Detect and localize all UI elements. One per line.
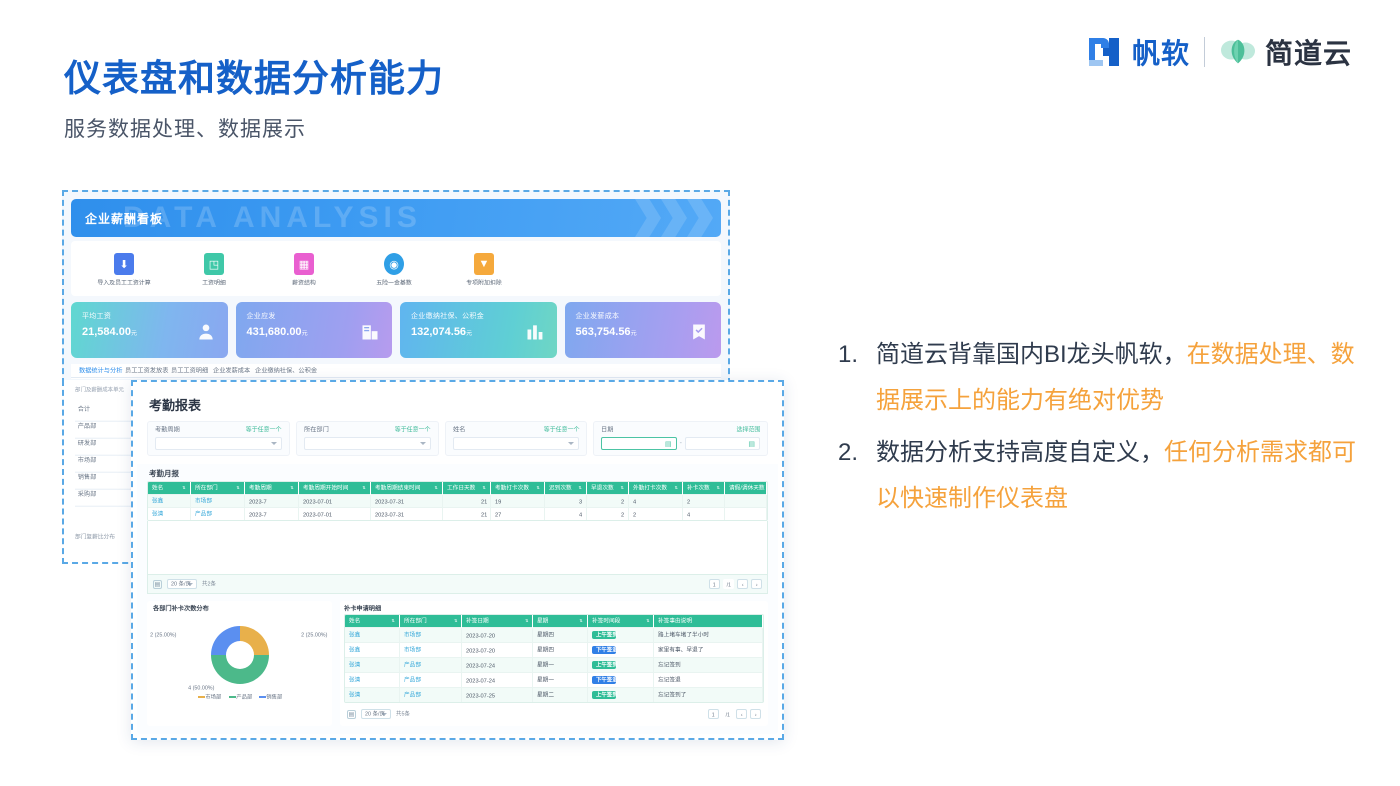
download-icon: ⬇ [114,253,134,275]
cell-date: 2023-07-24 [462,673,533,688]
attendance-table-footer: ▤ 20 条/页 共2条 1 /1 ‹ › [147,575,768,594]
legend-swatch [198,696,205,698]
tab-data-analysis[interactable]: 数据统计与分析 [79,367,122,375]
filter-select-input[interactable] [453,437,580,450]
filter-operator[interactable]: 等于任意一个 [395,426,431,434]
tab-payroll-cost[interactable]: 企业发薪成本 [213,367,250,375]
quick-action-special-deduction[interactable]: ▼ 专项附加扣除 [457,253,511,286]
total-count: 共5条 [396,710,410,718]
sort-icon[interactable]: ⇅ [362,485,365,490]
table-row[interactable]: 张鑫 市场部 2023-7 2023-07-01 2023-07-31 21 1… [148,495,767,508]
bullet-text: 简道云背靠国内BI龙头帆软，在数据处理、数据展示上的能力有绝对优势 [876,332,1358,424]
cell-makeup: 4 [682,508,724,521]
donut-label-market: 2 (25.00%) [304,632,324,637]
table-row[interactable]: 张鑫 市场部 2023-07-20 星期四 下午签退 家里有事、早退了 [345,643,763,658]
cell-period: 2023-7 [244,508,298,521]
cell-leave [724,508,766,521]
date-start-input[interactable]: ▤ [601,437,676,450]
detail-table: 姓名⇅ 所在部门⇅ 补签日期⇅ 星期⇅ 补签时间段⇅ 补签事由说明 [344,614,764,703]
makeup-application-detail-card: 补卡申请明细 姓名⇅ 所在部门⇅ 补签日期⇅ 星期⇅ 补签时间段⇅ 补签 [340,601,768,726]
cell-end: 2023-07-31 [370,495,442,508]
status-badge: 上午签到 [592,691,616,699]
insurance-icon: ◉ [384,253,404,275]
tab-social-insurance[interactable]: 企业缴纳社保、公积金 [255,367,317,375]
sort-icon[interactable]: ⇅ [717,485,720,490]
cell-slot: 上午签到 [587,628,654,643]
filter-head: 姓名 等于任意一个 [453,427,580,433]
pagination: 1 /1 ‹ › [709,579,762,589]
sort-icon[interactable]: ⇅ [536,485,539,490]
kpi-unit: 元 [302,331,308,337]
sort-icon[interactable]: ⇅ [236,485,239,490]
kpi-number: 132,074.56 [411,326,466,338]
attendance-table-body: 张鑫 市场部 2023-7 2023-07-01 2023-07-31 21 1… [148,495,767,521]
attendance-table-blank-area [147,521,768,575]
report-title: 考勤报表 [137,386,778,421]
cell-weekday: 星期一 [533,673,587,688]
sort-icon[interactable]: ⇅ [454,618,457,623]
date-end-input[interactable]: ▤ [685,437,760,450]
col-weekday[interactable]: 星期⇅ [533,615,587,628]
cell-weekday: 星期四 [533,628,587,643]
cell-early: 2 [586,495,628,508]
fanruan-mark-icon [1085,32,1125,72]
col-makeup[interactable]: 补卡次数⇅ [682,482,724,495]
page-size-select[interactable]: 20 条/页 [361,709,391,719]
col-reason[interactable]: 补签事由说明 [654,615,763,628]
kpi-unit: 元 [131,331,137,337]
fanruan-logo: 帆软 [1085,32,1190,72]
col-period-end[interactable]: 考勤周期结束时间⇅ [370,482,442,495]
col-early-leave[interactable]: 早退次数⇅ [586,482,628,495]
page-size-value: 20 条/页 [365,710,385,718]
bullet-text: 数据分析支持高度自定义，任何分析需求都可以快速制作仪表盘 [876,430,1358,522]
total-count: 共2条 [202,580,216,588]
table-row[interactable]: 张清 产品部 2023-07-24 星期一 下午签退 忘记签退 [345,673,763,688]
sort-icon[interactable]: ⇅ [578,485,581,490]
col-dept[interactable]: 所在部门⇅ [190,482,244,495]
cell-leave [724,495,766,508]
col-outside-punch[interactable]: 外勤打卡次数⇅ [628,482,682,495]
kpi-unit: 元 [631,331,637,337]
cell-dept: 市场部 [190,495,244,508]
slide-root: 仪表盘和数据分析能力 服务数据处理、数据展示 帆软 简道云 1. 简道云 [0,0,1400,786]
page-total: /1 [722,709,733,719]
quick-action-payroll-detail[interactable]: ◳ 工资明细 [187,253,241,286]
kpi-card-row: 平均工资 21,584.00元 企业应发 431,680.00元 企业缴纳社保、… [67,296,725,364]
cell-reason: 忘记签退 [654,673,763,688]
page-subtitle: 服务数据处理、数据展示 [64,113,306,143]
cell-late: 4 [544,508,586,521]
donut-ring [211,626,269,684]
calendar-icon: ▤ [748,440,755,448]
chevron-down-icon [271,442,277,445]
cell-dept: 市场部 [399,643,462,658]
filter-operator[interactable]: 等于任意一个 [246,426,282,434]
quick-action-label: 专项附加扣除 [448,279,521,287]
sort-icon[interactable]: ⇅ [182,485,185,490]
cell-reason: 忘记签到 [654,658,763,673]
detail-title-text: 补卡申请明细 [344,605,381,613]
donut-label-sales: 2 (25.00%) [153,632,173,637]
cell-early: 2 [586,508,628,521]
quick-action-insurance-base[interactable]: ◉ 五险一金基数 [367,253,421,286]
filter-head: 所在部门 等于任意一个 [304,427,431,433]
chevron-decor-icon [661,199,687,237]
export-icon[interactable]: ▤ [153,580,162,589]
cell-name[interactable]: 张清 [345,673,399,688]
list-item: 1. 简道云背靠国内BI龙头帆软，在数据处理、数据展示上的能力有绝对优势 [838,332,1358,424]
filter-name[interactable]: 姓名 等于任意一个 [445,421,588,456]
kpi-card-average-salary: 平均工资 21,584.00元 [71,302,228,358]
sort-icon[interactable]: ⇅ [290,485,293,490]
sort-icon[interactable]: ⇅ [434,485,437,490]
status-badge: 下午签退 [592,676,616,684]
filter-department[interactable]: 所在部门 等于任意一个 [296,421,439,456]
bullet-number: 2. [838,430,876,522]
prev-page-button[interactable]: ‹ [736,709,747,719]
cell-date: 2023-07-24 [462,658,533,673]
chevron-decor-icon [635,199,661,237]
filter-label: 考勤周期 [155,426,180,434]
cell-outside: 2 [628,508,682,521]
col-leave-days[interactable]: 请假/调休天数 [724,482,766,495]
cell-name[interactable]: 张清 [148,508,190,521]
page-current[interactable]: 1 [709,579,720,589]
jiandaoyun-logo: 简道云 [1219,32,1352,72]
jiandaoyun-cloud-leaf-icon [1219,35,1257,69]
cell-end: 2023-07-31 [370,508,442,521]
col-period-start[interactable]: 考勤周期开始时间⇅ [298,482,370,495]
kpi-card-total-cost: 企业发薪成本 563,754.56元 [565,302,722,358]
page-current[interactable]: 1 [708,709,719,719]
fanruan-wordmark: 帆软 [1132,32,1190,72]
quick-action-label: 五险一金基数 [358,279,431,287]
sort-icon[interactable]: ⇅ [620,485,623,490]
kpi-number: 563,754.56 [576,326,631,338]
kpi-unit: 元 [466,331,472,337]
quick-action-label: 导入及员工工资计算 [88,279,161,287]
sort-icon[interactable]: ⇅ [674,485,677,490]
filter-head: 考勤周期 等于任意一个 [155,427,282,433]
sort-icon[interactable]: ⇅ [482,485,485,490]
detail-table-head: 姓名⇅ 所在部门⇅ 补签日期⇅ 星期⇅ 补签时间段⇅ 补签事由说明 [345,615,763,628]
makeup-distribution-chart-card: 各部门补卡次数分布 2 (25.00%) 2 (25.00%) 4 (50.00… [147,601,332,726]
cell-slot: 上午签到 [587,658,654,673]
quick-action-bar: ⬇ 导入及员工工资计算 ◳ 工资明细 ▦ 薪资结构 ◉ 五险一金基数 ▼ 专 [71,241,721,296]
attendance-table-head: 姓名⇅ 所在部门⇅ 考勤周期⇅ 考勤周期开始时间⇅ 考勤周期结束时间⇅ 工作日天… [148,482,767,495]
table-row[interactable]: 张清 产品部 2023-07-25 星期二 上午签到 忘记签到了 [345,688,763,703]
cell-punches: 19 [490,495,544,508]
cell-date: 2023-07-25 [462,688,533,703]
col-workdays[interactable]: 工作日天数⇅ [442,482,490,495]
quick-action-label: 工资明细 [178,279,251,287]
col-makeup-date[interactable]: 补签日期⇅ [462,615,533,628]
dashboard-title: 企业薪酬看板 [85,210,163,227]
list-item: 2. 数据分析支持高度自定义，任何分析需求都可以快速制作仪表盘 [838,430,1358,522]
chart-title: 各部门补卡次数分布 [153,606,326,612]
cell-reason: 忘记签到了 [654,688,763,703]
cell-reason: 路上堵车堵了半小时 [654,628,763,643]
cell-name[interactable]: 张清 [345,658,399,673]
page-total: /1 [723,579,734,589]
grid-icon: ▦ [294,253,314,275]
col-late[interactable]: 迟到次数⇅ [544,482,586,495]
tab-payroll-issue[interactable]: 员工工资发放表 [125,367,168,375]
bullet-plain: 数据分析支持高度自定义， [876,439,1164,466]
next-page-button[interactable]: › [750,709,761,719]
cell-name[interactable]: 张鑫 [345,628,399,643]
brand-divider [1204,37,1205,67]
tab-payroll-detail[interactable]: 员工工资明细 [171,367,208,375]
cell-name[interactable]: 张鑫 [148,495,190,508]
dashboard-banner: DATA ANALYSIS 企业薪酬看板 [71,199,721,237]
cell-slot: 上午签到 [587,688,654,703]
kpi-number: 21,584.00 [82,326,131,338]
export-icon[interactable]: ▤ [347,710,356,719]
cell-late: 3 [544,495,586,508]
page-size-value: 20 条/页 [171,580,191,588]
brand-lockup: 帆软 简道云 [1085,32,1352,72]
chevron-down-icon [568,442,574,445]
filter-attendance-period[interactable]: 考勤周期 等于任意一个 [147,421,290,456]
cell-weekday: 星期四 [533,643,587,658]
table-header-row: 姓名⇅ 所在部门⇅ 考勤周期⇅ 考勤周期开始时间⇅ 考勤周期结束时间⇅ 工作日天… [148,482,767,495]
money-bag-icon: ◳ [204,253,224,275]
jiandaoyun-wordmark: 简道云 [1265,32,1352,72]
table-row[interactable]: 张鑫 市场部 2023-07-20 星期四 上午签到 路上堵车堵了半小时 [345,628,763,643]
col-name[interactable]: 姓名⇅ [148,482,190,495]
quick-action-salary-structure[interactable]: ▦ 薪资结构 [277,253,331,286]
section-label-monthly: 考勤月报 [137,464,778,481]
sort-icon[interactable]: ⇅ [525,618,528,623]
cell-date: 2023-07-20 [462,643,533,658]
col-punches[interactable]: 考勤打卡次数⇅ [490,482,544,495]
bullet-plain: 简道云背靠国内BI龙头帆软， [876,341,1187,368]
filter-operator[interactable]: 选择范围 [736,426,760,434]
date-range-separator: - [680,440,682,447]
filter-label: 所在部门 [304,426,329,434]
cell-dept: 市场部 [399,628,462,643]
bullet-number: 1. [838,332,876,424]
quick-action-label: 薪资结构 [268,279,341,287]
dashboard-body: DATA ANALYSIS 企业薪酬看板 ⬇ 导入及员工工资计算 ◳ 工资明细 … [67,195,725,379]
filter-select-input[interactable] [304,437,431,450]
cell-makeup: 2 [682,495,724,508]
detail-table-element: 姓名⇅ 所在部门⇅ 补签日期⇅ 星期⇅ 补签时间段⇅ 补签事由说明 [345,615,763,702]
cell-dept: 产品部 [399,658,462,673]
footer-left: ▤ 20 条/页 共2条 [153,579,213,589]
cell-dept: 产品部 [399,688,462,703]
attendance-report-card: 考勤报表 考勤周期 等于任意一个 所在部门 等于任意一个 [137,386,778,734]
sort-icon[interactable]: ⇅ [391,618,394,623]
cell-punches: 27 [490,508,544,521]
feature-bullet-list: 1. 简道云背靠国内BI龙头帆软，在数据处理、数据展示上的能力有绝对优势 2. … [838,332,1358,528]
cell-weekday: 星期一 [533,658,587,673]
status-badge: 上午签到 [592,661,616,669]
attendance-table-element: 姓名⇅ 所在部门⇅ 考勤周期⇅ 考勤周期开始时间⇅ 考勤周期结束时间⇅ 工作日天… [148,482,767,520]
donut-chart: 2 (25.00%) 2 (25.00%) 4 (50.00%) [153,614,326,696]
cell-workdays: 21 [442,508,490,521]
cell-reason: 家里有事、早退了 [654,643,763,658]
bar-chart-icon [525,322,545,342]
legend-swatch [229,696,236,698]
cell-dept: 产品部 [190,508,244,521]
status-badge: 上午签到 [592,631,616,639]
filter-head: 日期 选择范围 [601,427,760,433]
kpi-title: 平均工资 [82,311,217,321]
check-bookmark-icon [689,322,709,342]
page-size-select[interactable]: 20 条/页 [167,579,197,589]
col-time-slot[interactable]: 补签时间段⇅ [587,615,654,628]
status-badge: 下午签退 [592,646,616,654]
cell-outside: 4 [628,495,682,508]
col-period[interactable]: 考勤周期⇅ [244,482,298,495]
cell-dept: 产品部 [399,673,462,688]
dashboard-subheaders: 部门及薪酬成本单元 月ފ薪酬成本 [71,378,721,379]
kpi-card-gross-payable: 企业应发 431,680.00元 [236,302,393,358]
cell-workdays: 21 [442,495,490,508]
detail-table-footer: ▤ 20 条/页 共5条 1 /1 ‹ › [344,706,764,722]
attendance-report-screenshot: 考勤报表 考勤周期 等于任意一个 所在部门 等于任意一个 [131,380,784,740]
section-label-text: 考勤月报 [149,468,179,479]
cell-name[interactable]: 张鑫 [345,643,399,658]
cell-start: 2023-07-01 [298,495,370,508]
chevron-decor-icon [687,199,713,237]
attendance-table: 姓名⇅ 所在部门⇅ 考勤周期⇅ 考勤周期开始时间⇅ 考勤周期结束时间⇅ 工作日天… [147,481,768,521]
pagination: 1 /1 ‹ › [708,709,761,719]
filter-label: 日期 [601,426,613,434]
sort-icon[interactable]: ⇅ [579,618,582,623]
chevron-down-icon [420,442,426,445]
col-name[interactable]: 姓名⇅ [345,615,399,628]
footer-left: ▤ 20 条/页 共5条 [347,709,407,719]
cell-start: 2023-07-01 [298,508,370,521]
person-icon [196,322,216,342]
legend-swatch [259,696,266,698]
cell-slot: 下午签退 [587,643,654,658]
detail-title: 补卡申请明细 [344,606,764,612]
building-icon [360,322,380,342]
table-row[interactable]: 张清 产品部 2023-7 2023-07-01 2023-07-31 21 2… [148,508,767,521]
date-range-inputs: ▤ - ▤ [601,437,760,450]
page-title: 仪表盘和数据分析能力 [64,48,444,102]
cell-period: 2023-7 [244,495,298,508]
filter-bar: 考勤周期 等于任意一个 所在部门 等于任意一个 姓名 等于任意一个 [137,421,778,464]
bottom-split-row: 各部门补卡次数分布 2 (25.00%) 2 (25.00%) 4 (50.00… [137,594,778,732]
salary-dashboard-screenshot: DATA ANALYSIS 企业薪酬看板 ⬇ 导入及员工工资计算 ◳ 工资明细 … [62,190,730,384]
kpi-number: 431,680.00 [247,326,302,338]
cell-weekday: 星期二 [533,688,587,703]
funnel-icon: ▼ [474,253,494,275]
prev-page-button[interactable]: ‹ [737,579,748,589]
cell-slot: 下午签退 [587,673,654,688]
table-header-row: 姓名⇅ 所在部门⇅ 补签日期⇅ 星期⇅ 补签时间段⇅ 补签事由说明 [345,615,763,628]
next-page-button[interactable]: › [751,579,762,589]
kpi-title: 企业缴纳社保、公积金 [411,311,546,321]
filter-date-range[interactable]: 日期 选择范围 ▤ - ▤ [593,421,768,456]
kpi-card-social-insurance: 企业缴纳社保、公积金 132,074.56元 [400,302,557,358]
dashboard-tab-bar: 数据统计与分析 员工工资发放表 员工工资明细 企业发薪成本 企业缴纳社保、公积金 [71,364,721,378]
cell-name[interactable]: 张清 [345,688,399,703]
sort-icon[interactable]: ⇅ [646,618,649,623]
calendar-icon: ▤ [665,440,672,448]
chart-title-text: 各部门补卡次数分布 [153,605,209,613]
donut-label-product: 4 (50.00%) [191,685,211,690]
banner-watermark: DATA ANALYSIS [123,201,422,235]
kpi-title: 企业发薪成本 [576,311,711,321]
table-row[interactable]: 张清 产品部 2023-07-24 星期一 上午签到 忘记签到 [345,658,763,673]
kpi-title: 企业应发 [247,311,382,321]
filter-label: 姓名 [453,426,465,434]
filter-select-input[interactable] [155,437,282,450]
quick-action-import[interactable]: ⬇ 导入及员工工资计算 [97,253,151,286]
detail-table-body: 张鑫 市场部 2023-07-20 星期四 上午签到 路上堵车堵了半小时 张鑫 [345,628,763,703]
filter-operator[interactable]: 等于任意一个 [544,426,580,434]
cell-date: 2023-07-20 [462,628,533,643]
col-dept[interactable]: 所在部门⇅ [399,615,462,628]
